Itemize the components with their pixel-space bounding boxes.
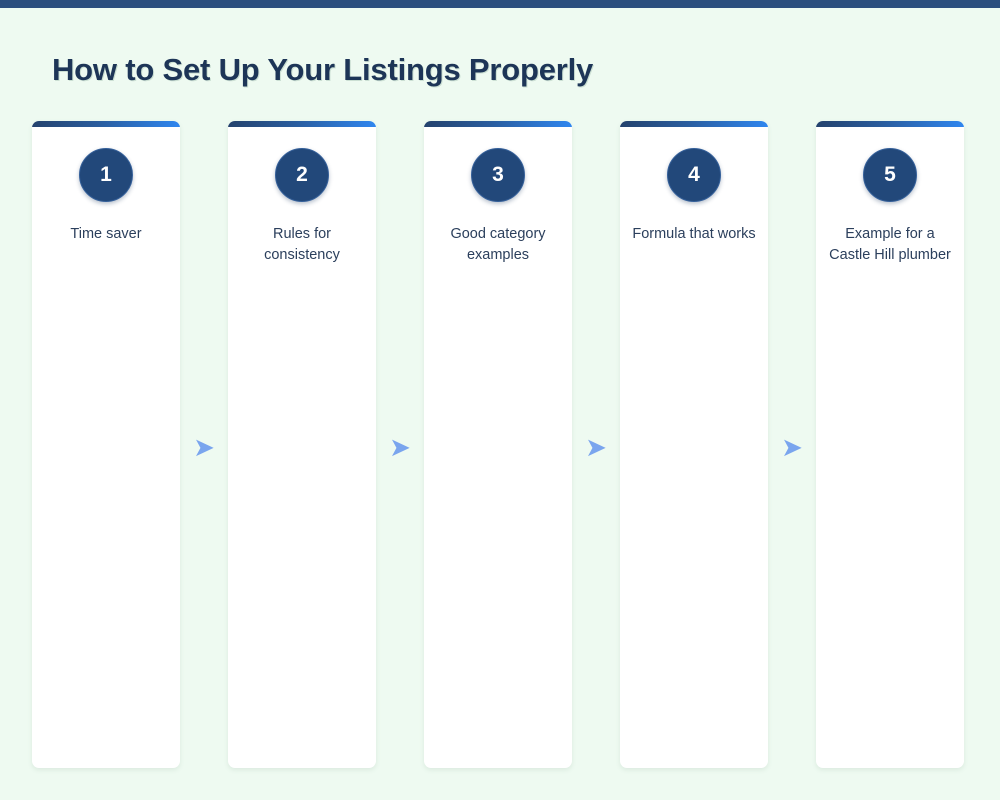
- card-accent-bar: [32, 121, 180, 127]
- card-accent-bar: [816, 121, 964, 127]
- step-number-badge: 3: [471, 148, 525, 202]
- arrow-connector-1: ➤: [180, 121, 228, 768]
- card-content: 4 Formula that works: [620, 121, 768, 245]
- arrow-right-icon: ➤: [193, 434, 215, 460]
- step-number-badge: 4: [667, 148, 721, 202]
- card-content: 1 Time saver: [32, 121, 180, 245]
- step-card-1[interactable]: 1 Time saver: [32, 121, 180, 768]
- step-card-3[interactable]: 3 Good category examples: [424, 121, 572, 768]
- card-accent-bar: [228, 121, 376, 127]
- step-number-badge: 1: [79, 148, 133, 202]
- step-card-5[interactable]: 5 Example for a Castle Hill plumber: [816, 121, 964, 768]
- arrow-right-icon: ➤: [585, 434, 607, 460]
- step-label: Time saver: [70, 224, 141, 245]
- step-label: Rules for consistency: [240, 224, 364, 266]
- step-number-badge: 2: [275, 148, 329, 202]
- process-flow-diagram: 1 Time saver ➤ 2 Rules for consistency ➤…: [32, 121, 968, 768]
- card-content: 3 Good category examples: [424, 121, 572, 266]
- card-content: 2 Rules for consistency: [228, 121, 376, 266]
- step-card-2[interactable]: 2 Rules for consistency: [228, 121, 376, 768]
- arrow-connector-4: ➤: [768, 121, 816, 768]
- arrow-right-icon: ➤: [781, 434, 803, 460]
- step-card-4[interactable]: 4 Formula that works: [620, 121, 768, 768]
- card-accent-bar: [620, 121, 768, 127]
- top-accent-bar: [0, 0, 1000, 8]
- card-accent-bar: [424, 121, 572, 127]
- page-title: How to Set Up Your Listings Properly: [52, 52, 593, 88]
- step-label: Formula that works: [632, 224, 755, 245]
- arrow-connector-3: ➤: [572, 121, 620, 768]
- step-label: Example for a Castle Hill plumber: [828, 224, 952, 266]
- arrow-right-icon: ➤: [389, 434, 411, 460]
- arrow-connector-2: ➤: [376, 121, 424, 768]
- card-content: 5 Example for a Castle Hill plumber: [816, 121, 964, 266]
- step-number-badge: 5: [863, 148, 917, 202]
- step-label: Good category examples: [436, 224, 560, 266]
